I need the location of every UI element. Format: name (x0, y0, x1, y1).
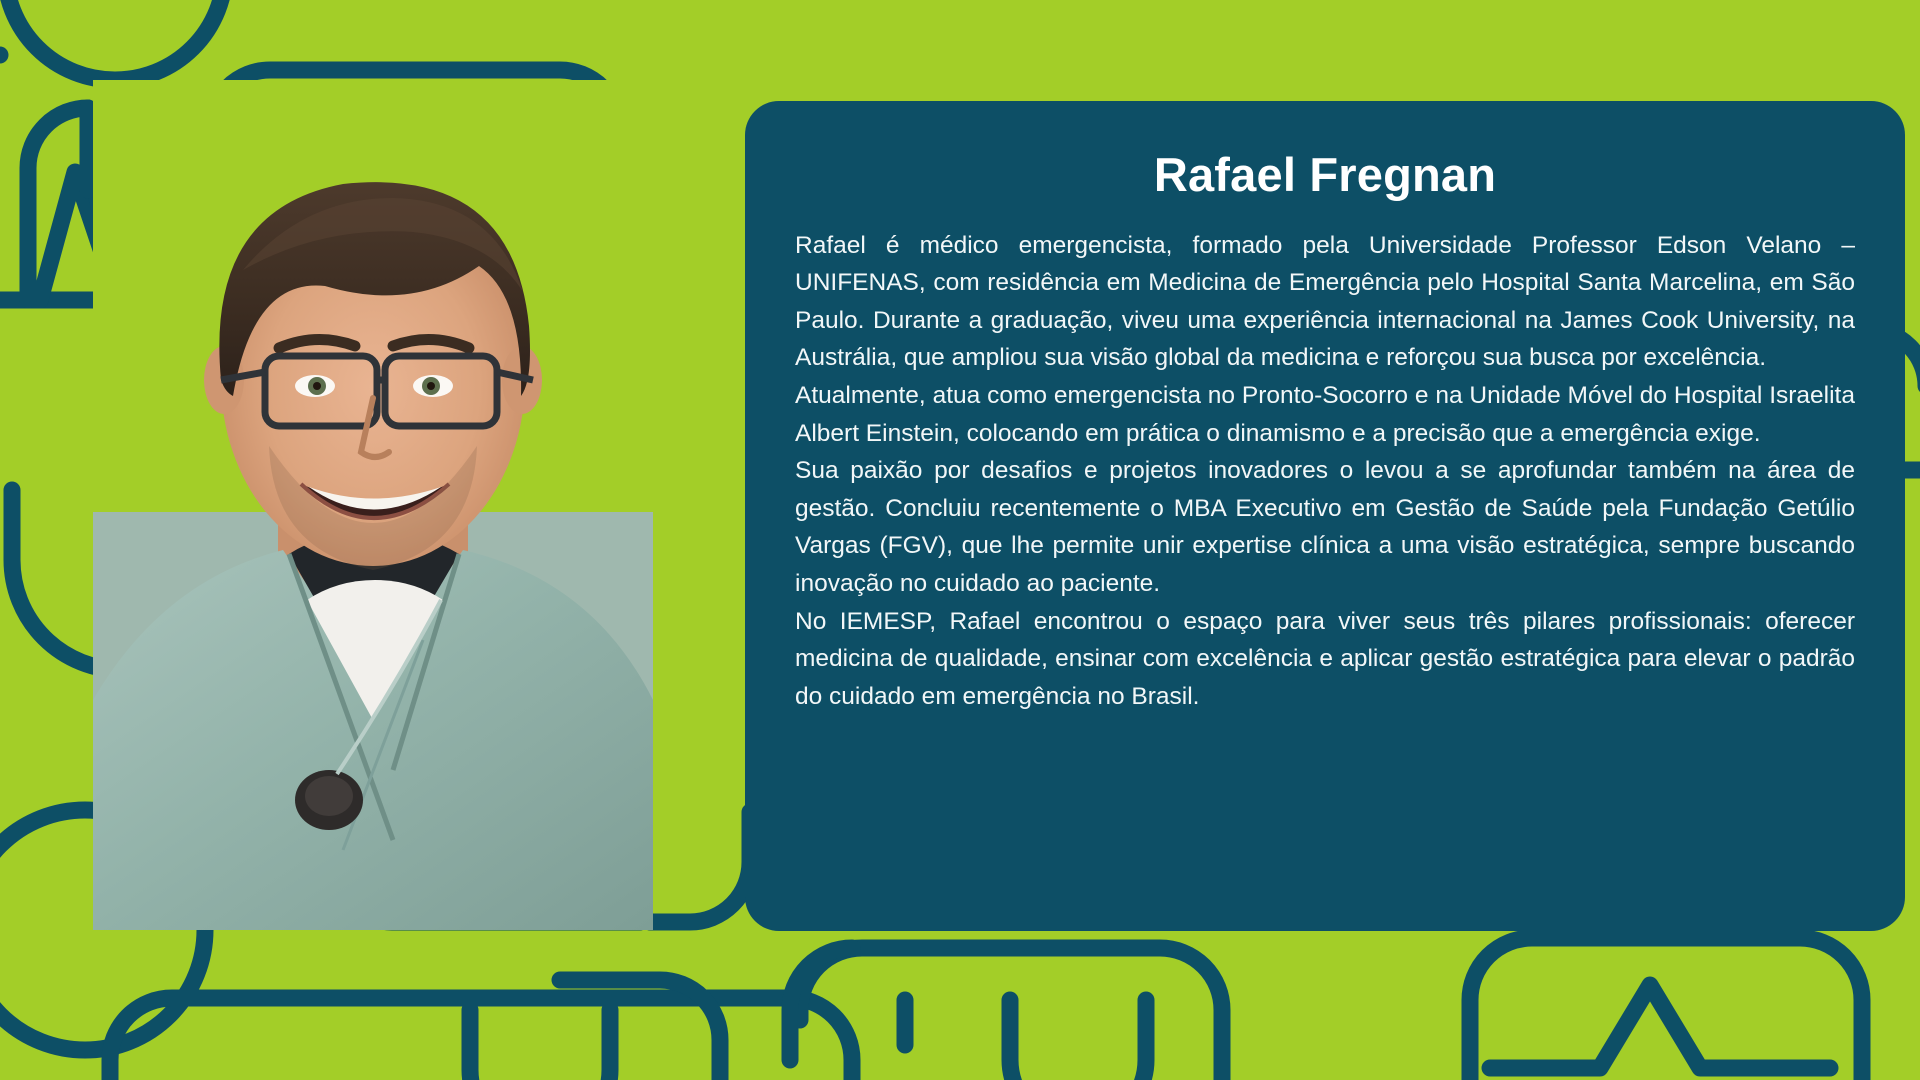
bio-paragraph: Sua paixão por desafios e projetos inova… (795, 452, 1855, 602)
profile-card: Rafael Fregnan Rafael é médico emergenci… (745, 101, 1905, 931)
slide-root: Rafael Fregnan Rafael é médico emergenci… (0, 0, 1920, 1080)
bio-text: Rafael é médico emergencista, formado pe… (795, 227, 1855, 716)
page-title: Rafael Fregnan (795, 149, 1855, 201)
bio-paragraph: No IEMESP, Rafael encontrou o espaço par… (795, 603, 1855, 716)
bio-paragraph: Rafael é médico emergencista, formado pe… (795, 227, 1855, 377)
bio-paragraph: Atualmente, atua como emergencista no Pr… (795, 377, 1855, 452)
portrait-photo (93, 80, 653, 930)
